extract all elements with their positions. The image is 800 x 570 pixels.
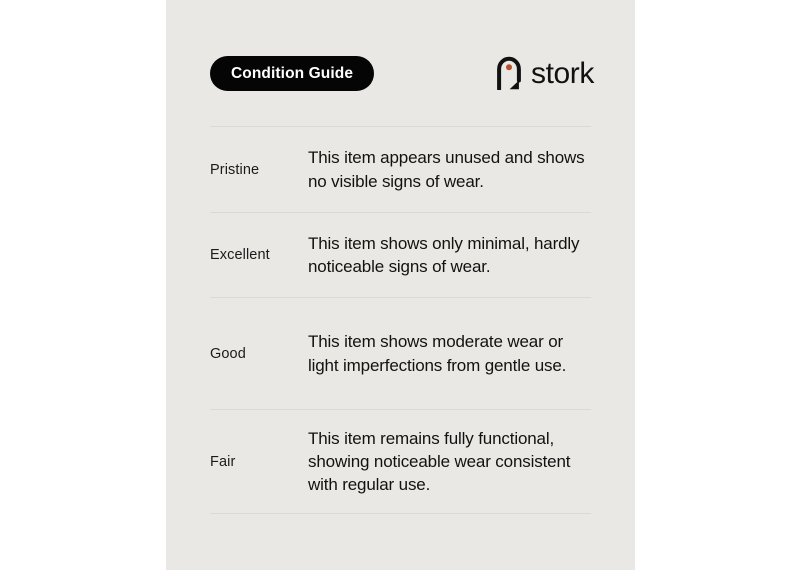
condition-guide-table: Pristine This item appears unused and sh… [210,126,591,514]
condition-label: Good [210,298,308,409]
condition-description: This item shows moderate wear or light i… [308,298,591,409]
table-row: Fair This item remains fully functional,… [210,409,591,513]
condition-guide-badge: Condition Guide [210,56,374,91]
condition-description: This item shows only minimal, hardly not… [308,213,591,297]
condition-guide-card: Condition Guide stork Pristine This item… [166,0,635,570]
table-row: Excellent This item shows only minimal, … [210,212,591,297]
table-row: Pristine This item appears unused and sh… [210,126,591,212]
condition-description: This item appears unused and shows no vi… [308,127,591,212]
condition-label: Excellent [210,213,308,297]
table-bottom-divider [210,513,591,514]
brand-lockup: stork [496,54,594,92]
condition-label: Pristine [210,127,308,212]
table-row: Good This item shows moderate wear or li… [210,297,591,409]
condition-description: This item remains fully functional, show… [308,410,591,513]
brand-wordmark: stork [531,59,594,89]
page-root: Condition Guide stork Pristine This item… [0,0,800,570]
card-header: Condition Guide stork [166,0,635,126]
stork-logo-mark-icon [496,56,522,90]
condition-label: Fair [210,410,308,513]
